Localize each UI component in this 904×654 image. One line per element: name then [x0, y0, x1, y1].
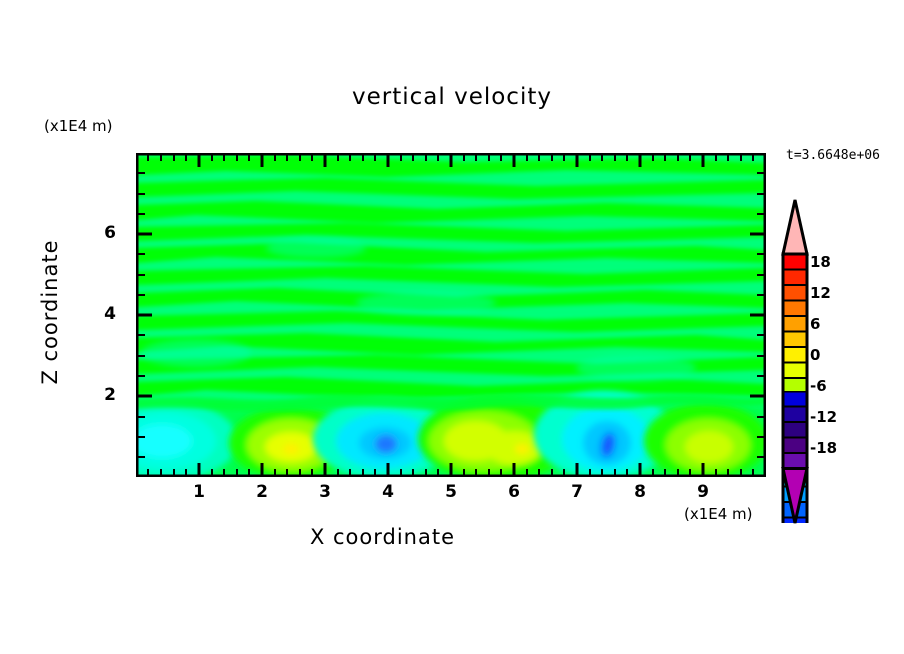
- colorbar-label-neg6: -6: [810, 377, 827, 395]
- x-tick-label-8: 8: [620, 482, 660, 502]
- x-tick-label-1: 1: [179, 482, 219, 502]
- x-tick-label-9: 9: [683, 482, 723, 502]
- colorbar-label-neg18: -18: [810, 439, 837, 457]
- page-title: vertical velocity: [0, 84, 904, 110]
- x-tick-label-2: 2: [242, 482, 282, 502]
- colorbar-label-12: 12: [810, 284, 831, 302]
- x-tick-label-7: 7: [557, 482, 597, 502]
- x-tick-label-4: 4: [368, 482, 408, 502]
- contour-plot: [136, 153, 766, 477]
- colorbar-bottom-section: [778, 391, 812, 526]
- x-axis-title: X coordinate: [0, 525, 765, 549]
- y-axis-title: Z coordinate: [38, 202, 62, 422]
- colorbar-over-arrow: [783, 200, 807, 254]
- colorbar-label-6: 6: [810, 315, 820, 333]
- colorbar-under-arrow: [783, 469, 807, 524]
- colorbar-label-0: 0: [810, 346, 820, 364]
- x-tick-label-3: 3: [305, 482, 345, 502]
- timestamp-annotation: t=3.6648e+06: [786, 148, 880, 163]
- updraft-cell-3: [644, 403, 766, 477]
- x-axis-unit-label: (x1E4 m): [684, 505, 753, 523]
- y-axis-unit-label: (x1E4 m): [44, 117, 113, 135]
- x-tick-label-6: 6: [494, 482, 534, 502]
- y-tick-label-2: 2: [98, 385, 122, 405]
- y-tick-label-6: 6: [98, 223, 122, 243]
- colorbar-label-18: 18: [810, 253, 831, 271]
- colorbar-label-neg12: -12: [810, 408, 837, 426]
- x-tick-label-5: 5: [431, 482, 471, 502]
- y-tick-label-4: 4: [98, 304, 122, 324]
